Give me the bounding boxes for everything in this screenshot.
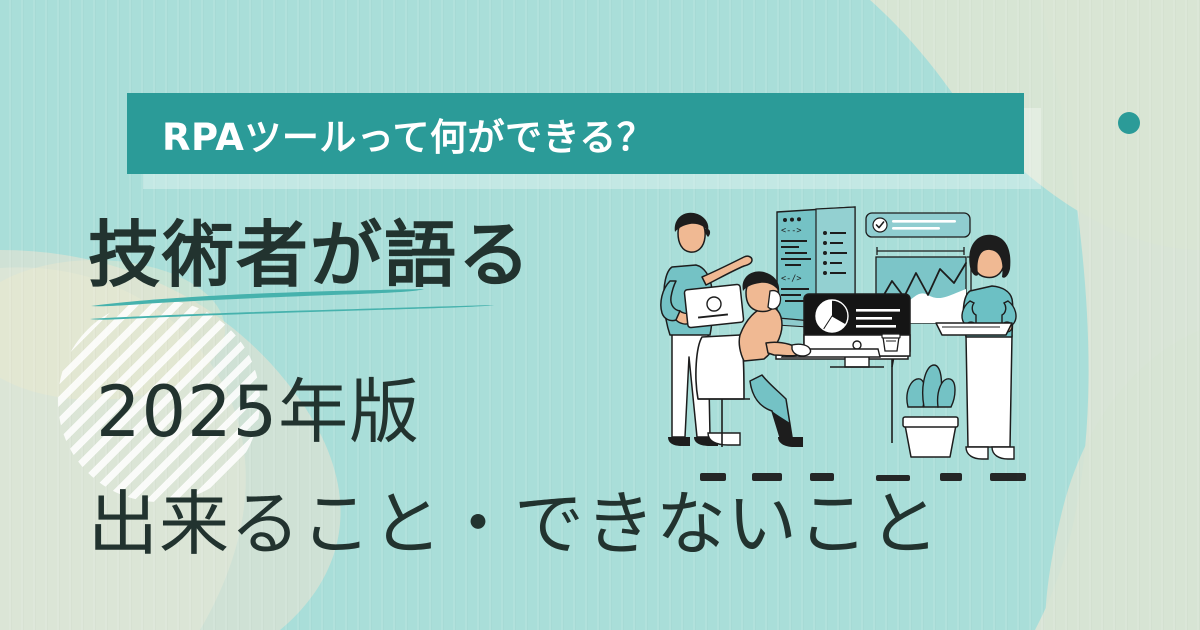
headline-line-1: 技術者が語る (88, 196, 532, 301)
poster-canvas: RPAツールって何ができる？ 技術者が語る 2025年版 出来ること・できないこ… (0, 0, 1200, 630)
coffee-cup (882, 334, 900, 351)
brush-stroke-thin-icon (88, 303, 498, 323)
banner-label: RPAツールって何ができる？ (127, 107, 654, 161)
office-team-working-illustration: <--> <-/> (640, 185, 1060, 485)
svg-text:<-/>: <-/> (781, 274, 801, 284)
potted-cactus (903, 365, 958, 457)
headline-line-2-year: 2025年版 (96, 356, 420, 457)
teal-dot-icon (1118, 112, 1140, 134)
notification-bar (866, 213, 970, 237)
tablet-device (684, 284, 744, 328)
floor-objects (700, 473, 1026, 481)
desk (776, 351, 908, 443)
banner-bar: RPAツールって何ができる？ (127, 93, 1024, 174)
standing-man-with-tablet (661, 213, 752, 446)
tray (936, 323, 1012, 335)
pie-chart-icon (816, 300, 848, 333)
svg-text:<-->: <--> (781, 226, 801, 236)
